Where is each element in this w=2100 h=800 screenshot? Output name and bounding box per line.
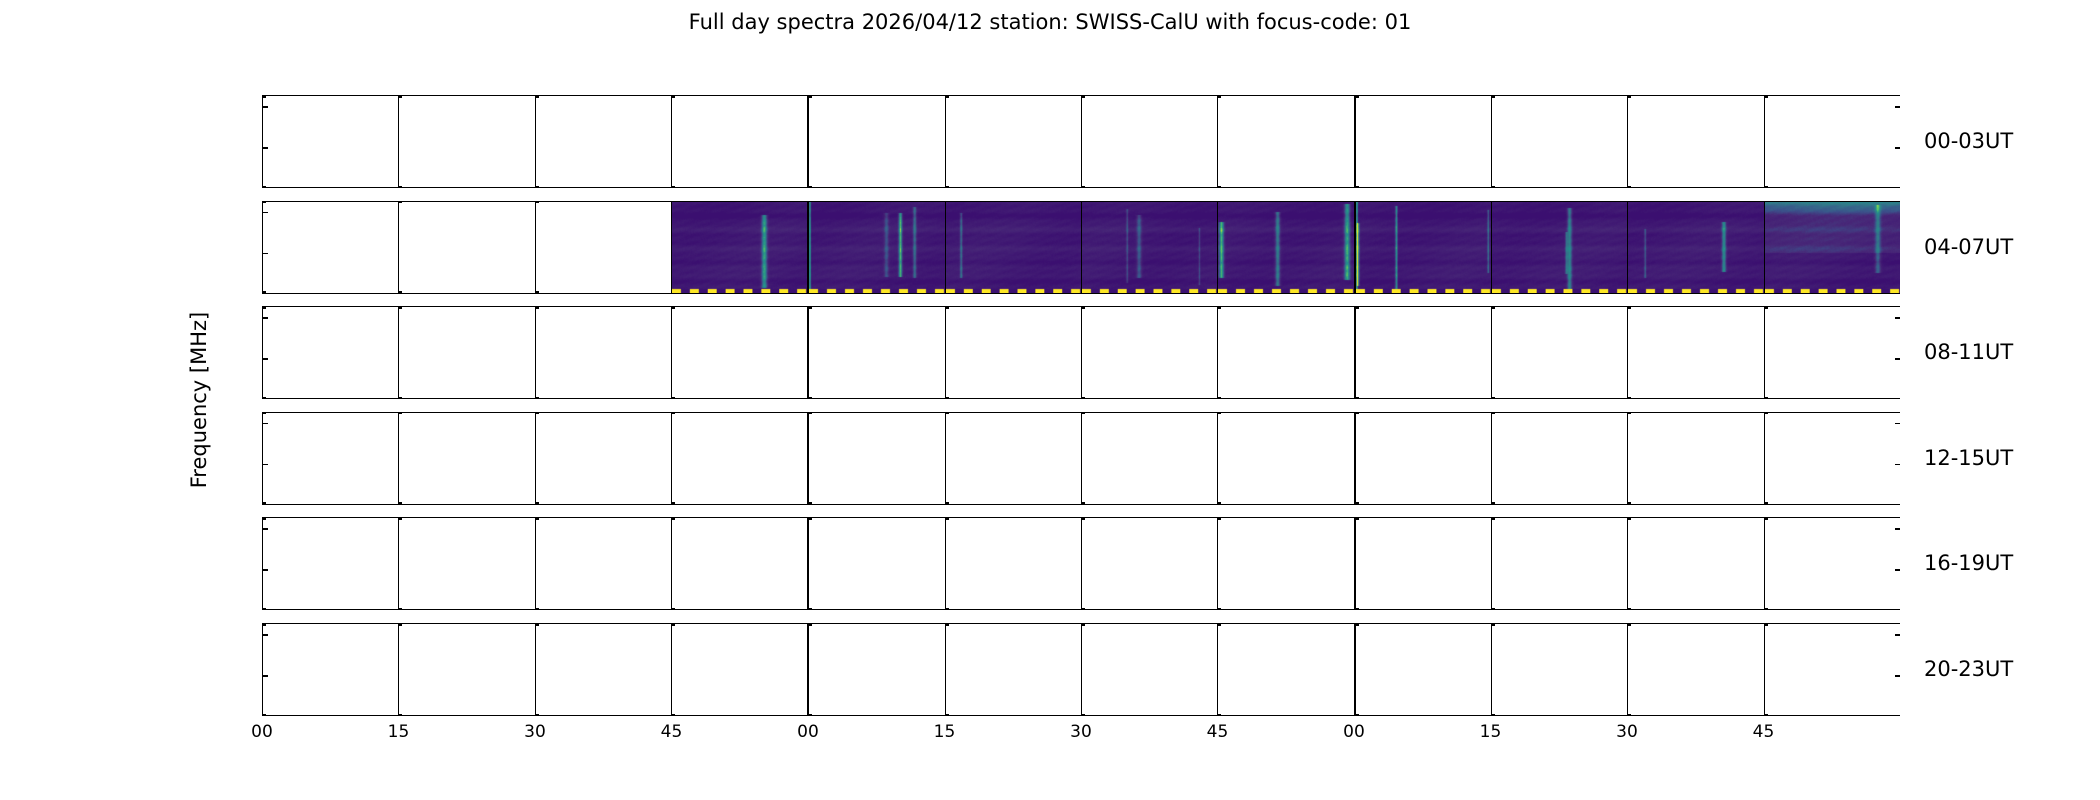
x-tick-label: 45 [1207, 722, 1229, 742]
spectrogram-cell[interactable] [807, 201, 944, 294]
spectrogram-row: 806008-11UT [262, 306, 1900, 399]
y-tick-mark [1895, 317, 1900, 319]
spectrogram-cell[interactable] [398, 306, 534, 399]
spectrogram-cell[interactable] [807, 412, 944, 505]
spectrogram-cell[interactable] [535, 623, 671, 716]
x-tick-mark [671, 397, 675, 399]
y-tick-mark [1895, 634, 1900, 636]
x-tick-mark [808, 608, 812, 610]
x-tick-mark [535, 413, 539, 415]
spectrogram-cell[interactable] [1627, 412, 1763, 505]
spectrogram-cell[interactable] [671, 95, 807, 188]
x-tick-mark [671, 307, 675, 309]
x-tick-mark [945, 397, 949, 399]
spectrogram-cell[interactable] [1217, 95, 1353, 188]
spectrogram-cell[interactable] [1491, 95, 1627, 188]
x-tick-mark [1081, 624, 1085, 626]
y-tick-mark [263, 317, 268, 319]
x-axis-tick-labels: 001530450015304500153045 [262, 722, 1900, 748]
x-tick-mark [808, 397, 812, 399]
x-tick-mark [1081, 397, 1085, 399]
x-tick-mark [1217, 413, 1221, 415]
y-tick-mark [263, 253, 268, 255]
spectrogram-cell[interactable] [945, 95, 1081, 188]
x-tick-mark [945, 96, 949, 98]
x-tick-mark [1081, 714, 1085, 716]
x-tick-mark [1764, 413, 1768, 415]
x-tick-mark [1627, 186, 1631, 188]
spectrogram-cell[interactable] [945, 517, 1081, 610]
x-tick-mark [1627, 397, 1631, 399]
row-time-range-label: 00-03UT [1924, 131, 2013, 152]
x-tick-mark [1491, 397, 1495, 399]
x-tick-mark [808, 502, 812, 504]
x-tick-mark [535, 624, 539, 626]
x-tick-mark [1081, 502, 1085, 504]
x-tick-mark [535, 608, 539, 610]
x-tick-mark [1355, 518, 1359, 520]
spectrogram-image [1082, 202, 1217, 293]
x-tick-mark [1081, 608, 1085, 610]
x-tick-mark [535, 502, 539, 504]
spectrogram-cell[interactable] [1627, 623, 1763, 716]
y-tick-mark [1895, 106, 1900, 108]
x-tick-mark [398, 608, 402, 610]
y-tick-mark [263, 464, 268, 466]
page-title: Full day spectra 2026/04/12 station: SWI… [0, 8, 2100, 36]
x-tick-mark [1355, 714, 1359, 716]
x-tick-mark [535, 518, 539, 520]
spectrogram-cell[interactable] [1354, 201, 1491, 294]
spectrogram-image [946, 202, 1081, 293]
x-tick-label: 45 [1753, 722, 1775, 742]
x-tick-mark [1217, 96, 1221, 98]
x-tick-label: 00 [797, 722, 819, 742]
x-tick-mark [398, 624, 402, 626]
y-tick-mark [263, 634, 268, 636]
x-tick-mark [1627, 502, 1631, 504]
spectrogram-cell[interactable] [1491, 201, 1627, 294]
x-tick-mark [1491, 714, 1495, 716]
spectrogram-cell[interactable] [1764, 517, 1900, 610]
x-tick-mark [262, 518, 266, 520]
x-tick-mark [1764, 397, 1768, 399]
spectrogram-cell[interactable] [535, 306, 671, 399]
spectrogram-cell[interactable] [1627, 306, 1763, 399]
spectrogram-cell[interactable] [945, 623, 1081, 716]
x-tick-mark [945, 608, 949, 610]
x-tick-mark [262, 202, 266, 204]
spectrogram-image [1356, 202, 1491, 293]
y-tick-mark [1895, 464, 1900, 466]
spectrogram-cell[interactable] [398, 517, 534, 610]
spectrogram-cell[interactable] [1491, 306, 1627, 399]
x-tick-mark [1491, 186, 1495, 188]
x-tick-mark [1217, 624, 1221, 626]
x-tick-mark [262, 714, 266, 716]
x-tick-mark [1081, 186, 1085, 188]
x-tick-mark [1217, 518, 1221, 520]
x-tick-mark [1355, 502, 1359, 504]
x-tick-mark [1627, 96, 1631, 98]
x-tick-mark [945, 714, 949, 716]
x-tick-mark [1627, 518, 1631, 520]
spectrogram-cell[interactable] [671, 412, 807, 505]
spectrogram-cell[interactable] [945, 201, 1081, 294]
spectrogram-cell[interactable] [1354, 95, 1491, 188]
x-tick-mark [1217, 186, 1221, 188]
x-tick-mark [1355, 608, 1359, 610]
x-tick-mark [1081, 413, 1085, 415]
spectrogram-cell[interactable] [807, 306, 944, 399]
x-tick-mark [1217, 307, 1221, 309]
x-tick-mark [1764, 608, 1768, 610]
y-tick-mark [263, 423, 268, 425]
x-tick-mark [1355, 186, 1359, 188]
spectrogram-cell[interactable]: 8060 [262, 623, 398, 716]
spectrogram-cell[interactable] [398, 412, 534, 505]
x-tick-mark [671, 714, 675, 716]
x-tick-mark [262, 624, 266, 626]
x-tick-mark [945, 307, 949, 309]
spectrogram-image [672, 202, 807, 293]
x-tick-mark [1081, 96, 1085, 98]
spectrogram-cell[interactable] [535, 517, 671, 610]
x-tick-mark [398, 518, 402, 520]
spectrogram-cell[interactable] [1217, 517, 1353, 610]
x-tick-mark [671, 624, 675, 626]
x-tick-mark [808, 714, 812, 716]
row-time-range-label: 12-15UT [1924, 448, 2013, 469]
x-tick-mark [535, 291, 539, 293]
x-tick-mark [1081, 518, 1085, 520]
spectrogram-cell[interactable] [1491, 623, 1627, 716]
x-tick-mark [1491, 608, 1495, 610]
y-axis-label: Frequency [MHz] [186, 120, 212, 680]
x-tick-label: 15 [934, 722, 956, 742]
spectrogram-cell[interactable] [1491, 412, 1627, 505]
x-tick-mark [671, 608, 675, 610]
spectrogram-cell[interactable] [1217, 623, 1353, 716]
row-time-range-label: 16-19UT [1924, 553, 2013, 574]
x-tick-mark [535, 96, 539, 98]
spectrogram-cell[interactable] [535, 95, 671, 188]
x-tick-mark [262, 608, 266, 610]
spectrogram-row: 806016-19UT [262, 517, 1900, 610]
spectrogram-cell[interactable] [1081, 623, 1217, 716]
x-tick-mark [1217, 608, 1221, 610]
spectrogram-row: 806000-03UT [262, 95, 1900, 188]
x-tick-mark [1217, 397, 1221, 399]
spectrogram-cell[interactable] [671, 306, 807, 399]
spectrogram-cell[interactable] [945, 306, 1081, 399]
x-tick-mark [1764, 96, 1768, 98]
x-tick-label: 30 [524, 722, 546, 742]
x-tick-mark [1627, 307, 1631, 309]
y-tick-mark [263, 106, 268, 108]
x-tick-mark [1491, 518, 1495, 520]
x-tick-label: 30 [1070, 722, 1092, 742]
x-tick-mark [1355, 624, 1359, 626]
spectrogram-cell[interactable] [535, 201, 671, 294]
row-time-range-label: 08-11UT [1924, 342, 2013, 363]
x-tick-mark [398, 714, 402, 716]
spectrogram-cell[interactable] [1491, 517, 1627, 610]
spectrogram-cell[interactable] [1764, 623, 1900, 716]
x-tick-label: 00 [1343, 722, 1365, 742]
spectrogram-cell[interactable] [671, 201, 807, 294]
row-time-range-label: 04-07UT [1924, 237, 2013, 258]
x-tick-label: 00 [251, 722, 273, 742]
x-tick-mark [1764, 624, 1768, 626]
x-tick-mark [808, 96, 812, 98]
x-tick-mark [262, 413, 266, 415]
spectrogram-cell[interactable] [1764, 412, 1900, 505]
x-tick-mark [1491, 624, 1495, 626]
x-tick-mark [262, 96, 266, 98]
x-tick-mark [1355, 413, 1359, 415]
spectrogram-cell[interactable] [807, 517, 944, 610]
spectrogram-row: 806020-23UT [262, 623, 1900, 716]
y-tick-mark [1895, 423, 1900, 425]
x-tick-mark [808, 186, 812, 188]
x-tick-mark [398, 96, 402, 98]
spectrogram-cell[interactable] [535, 412, 671, 505]
y-tick-mark [1895, 147, 1900, 149]
y-tick-mark [1895, 528, 1900, 530]
spectrogram-image [1628, 202, 1763, 293]
x-tick-mark [535, 397, 539, 399]
spectrogram-cell[interactable] [1081, 517, 1217, 610]
x-tick-mark [1217, 502, 1221, 504]
x-tick-mark [1491, 307, 1495, 309]
y-tick-mark [1895, 675, 1900, 677]
y-tick-mark [1895, 358, 1900, 360]
spectrogram-image [1218, 202, 1353, 293]
x-tick-mark [1764, 502, 1768, 504]
x-tick-mark [808, 624, 812, 626]
x-tick-mark [398, 202, 402, 204]
x-tick-mark [1627, 608, 1631, 610]
x-tick-mark [398, 502, 402, 504]
spectrogram-cell[interactable] [1217, 412, 1353, 505]
spectrogram-cell[interactable] [1081, 306, 1217, 399]
spectrogram-image [1765, 202, 1900, 293]
x-tick-mark [535, 186, 539, 188]
spectrogram-cell[interactable]: 8060 [262, 201, 398, 294]
x-tick-mark [945, 413, 949, 415]
x-tick-mark [671, 413, 675, 415]
x-tick-mark [398, 291, 402, 293]
spectrogram-cell[interactable] [1764, 306, 1900, 399]
spectrogram-cell[interactable] [671, 623, 807, 716]
spectrogram-cell[interactable] [1354, 623, 1491, 716]
x-tick-mark [1627, 714, 1631, 716]
spectrogram-cell[interactable] [1764, 95, 1900, 188]
x-tick-mark [808, 413, 812, 415]
spectrogram-cell[interactable]: 8060 [262, 306, 398, 399]
spectrogram-cell[interactable] [1627, 95, 1763, 188]
spectrogram-cell[interactable] [1354, 517, 1491, 610]
x-tick-mark [398, 413, 402, 415]
spectrogram-image [1492, 202, 1627, 293]
x-tick-mark [671, 96, 675, 98]
x-tick-mark [262, 502, 266, 504]
spectrogram-cell[interactable] [1627, 517, 1763, 610]
spectrogram-cell[interactable] [1354, 412, 1491, 505]
spectrogram-cell[interactable] [398, 623, 534, 716]
y-tick-mark [263, 358, 268, 360]
x-tick-mark [808, 307, 812, 309]
spectrogram-row: 806004-07UT [262, 201, 1900, 294]
x-tick-mark [262, 307, 266, 309]
spectrogram-cell[interactable] [1081, 412, 1217, 505]
x-tick-mark [398, 397, 402, 399]
spectrogram-cell[interactable] [945, 412, 1081, 505]
spectrogram-cell[interactable] [807, 623, 944, 716]
x-tick-label: 45 [661, 722, 683, 742]
x-tick-mark [1355, 397, 1359, 399]
spectrogram-cell[interactable] [1081, 201, 1217, 294]
spectrogram-cell[interactable] [1217, 306, 1353, 399]
spectrogram-grid: 806000-03UT806004-07UT806008-11UT806012-… [262, 95, 1900, 717]
spectrogram-image [809, 202, 944, 293]
spectrogram-row: 806012-15UT [262, 412, 1900, 505]
x-tick-mark [671, 502, 675, 504]
x-tick-mark [1081, 307, 1085, 309]
x-tick-mark [1355, 96, 1359, 98]
x-tick-mark [1355, 307, 1359, 309]
y-tick-mark [263, 528, 268, 530]
x-tick-mark [535, 307, 539, 309]
x-tick-mark [262, 291, 266, 293]
x-tick-mark [1764, 307, 1768, 309]
x-tick-mark [398, 186, 402, 188]
row-time-range-label: 20-23UT [1924, 659, 2013, 680]
x-tick-mark [535, 202, 539, 204]
spectrogram-cell[interactable] [1764, 201, 1900, 294]
y-tick-mark [263, 212, 268, 214]
x-tick-label: 30 [1616, 722, 1638, 742]
x-tick-mark [1491, 96, 1495, 98]
x-tick-mark [535, 714, 539, 716]
x-tick-mark [1491, 502, 1495, 504]
x-tick-mark [945, 186, 949, 188]
spectrogram-cell[interactable]: 8060 [262, 95, 398, 188]
x-tick-label: 15 [388, 722, 410, 742]
x-tick-mark [1764, 714, 1768, 716]
spectrogram-cell[interactable] [1081, 95, 1217, 188]
spectrogram-cell[interactable]: 8060 [262, 412, 398, 505]
y-tick-mark [263, 147, 268, 149]
spectrogram-cell[interactable]: 8060 [262, 517, 398, 610]
x-tick-mark [945, 624, 949, 626]
x-tick-mark [1491, 413, 1495, 415]
x-tick-mark [1627, 624, 1631, 626]
x-tick-label: 15 [1480, 722, 1502, 742]
y-tick-mark [263, 569, 268, 571]
x-tick-mark [1764, 186, 1768, 188]
y-tick-mark [263, 675, 268, 677]
spectrogram-cell[interactable] [671, 517, 807, 610]
spectrogram-cell[interactable] [398, 95, 534, 188]
spectrogram-cell[interactable] [1627, 201, 1763, 294]
spectrogram-cell[interactable] [1354, 306, 1491, 399]
x-tick-mark [398, 307, 402, 309]
spectrogram-cell[interactable] [1217, 201, 1353, 294]
x-tick-mark [671, 518, 675, 520]
x-tick-mark [1217, 714, 1221, 716]
x-tick-mark [945, 502, 949, 504]
x-tick-mark [808, 518, 812, 520]
x-tick-mark [1627, 413, 1631, 415]
spectrogram-cell[interactable] [398, 201, 534, 294]
x-tick-mark [262, 397, 266, 399]
spectrogram-cell[interactable] [807, 95, 944, 188]
y-tick-mark [1895, 569, 1900, 571]
x-tick-mark [262, 186, 266, 188]
x-tick-mark [671, 186, 675, 188]
x-tick-mark [945, 518, 949, 520]
x-tick-mark [1764, 518, 1768, 520]
